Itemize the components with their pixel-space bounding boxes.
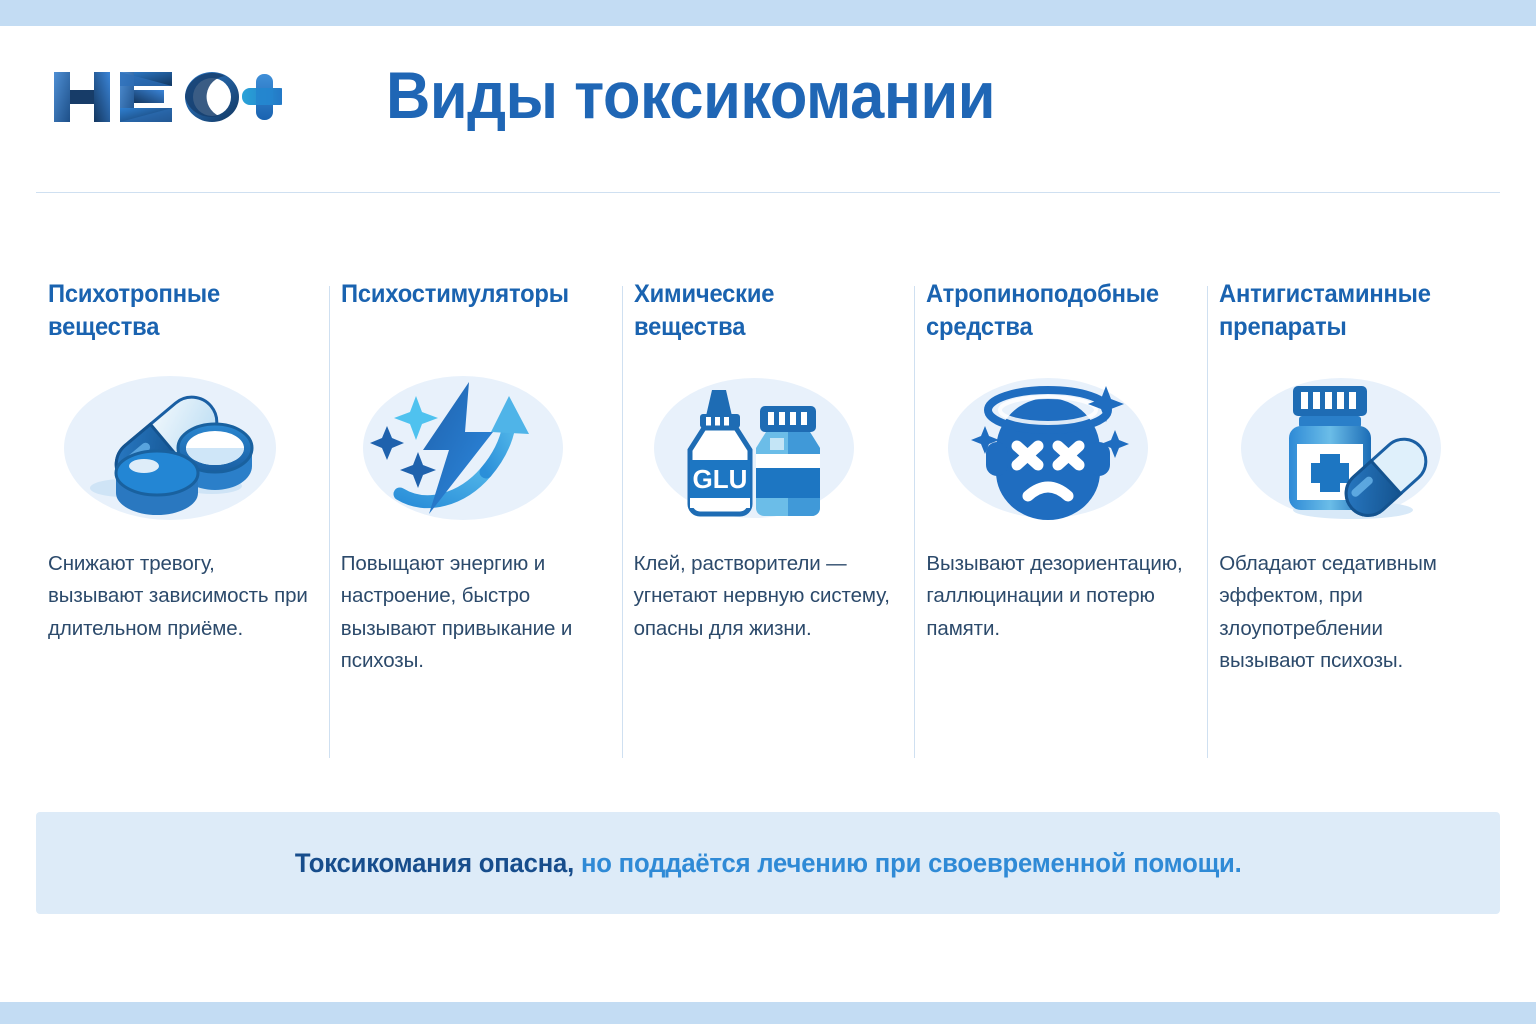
category-card-psychostimulants: Психостимуляторы bbox=[329, 278, 622, 768]
pills-capsule-icon bbox=[48, 364, 311, 532]
lightning-bolt-arrow-icon bbox=[341, 364, 604, 532]
footer-banner-strong: Токсикомания опасна, bbox=[295, 848, 574, 878]
pill-bottle-capsule-icon bbox=[1219, 364, 1482, 532]
category-card-chemical: Химические вещества bbox=[622, 278, 915, 768]
category-description: Повыщают энергию и настроение, быстро вы… bbox=[341, 548, 604, 678]
bottom-accent-band bbox=[0, 1002, 1536, 1024]
category-title: Психостимуляторы bbox=[341, 278, 591, 350]
content-canvas: Виды токсикомании Психотропные вещества bbox=[0, 26, 1536, 1002]
category-title: Психотропные вещества bbox=[48, 278, 298, 350]
infographic-page: Виды токсикомании Психотропные вещества bbox=[0, 0, 1536, 1024]
category-title: Антигистаминные препараты bbox=[1219, 278, 1469, 350]
header: Виды токсикомании bbox=[0, 26, 1536, 186]
top-accent-band bbox=[0, 0, 1536, 26]
page-title: Виды токсикомании bbox=[386, 54, 995, 137]
footer-banner-text: Токсикомания опасна, но поддаётся лечени… bbox=[295, 848, 1242, 879]
category-description: Клей, растворители — угнетают нервную си… bbox=[634, 548, 897, 645]
footer-banner: Токсикомания опасна, но поддаётся лечени… bbox=[36, 812, 1500, 914]
category-card-atropine: Атропиноподобные средства bbox=[914, 278, 1207, 768]
category-card-antihistamine: Антигистаминные препараты bbox=[1207, 278, 1500, 768]
category-description: Вызывают дезориентацию, галлюцинации и п… bbox=[926, 548, 1189, 645]
category-title: Химические вещества bbox=[634, 278, 884, 350]
footer-banner-light: но поддаётся лечению при своевременной п… bbox=[574, 848, 1242, 878]
categories-row: Психотропные вещества bbox=[36, 278, 1500, 768]
category-card-psychotropic: Психотропные вещества bbox=[36, 278, 329, 768]
header-divider bbox=[36, 192, 1500, 193]
category-title: Атропиноподобные средства bbox=[926, 278, 1176, 350]
category-description: Снижают тревогу, вызывают зависимость пр… bbox=[48, 548, 311, 645]
neo-plus-logo bbox=[52, 66, 282, 128]
glue-label: GLU bbox=[692, 464, 747, 494]
dizzy-face-icon bbox=[926, 364, 1189, 532]
glue-solvent-bottles-icon: GLU bbox=[634, 364, 897, 532]
category-description: Обладают седативным эффектом, при злоупо… bbox=[1219, 548, 1482, 678]
